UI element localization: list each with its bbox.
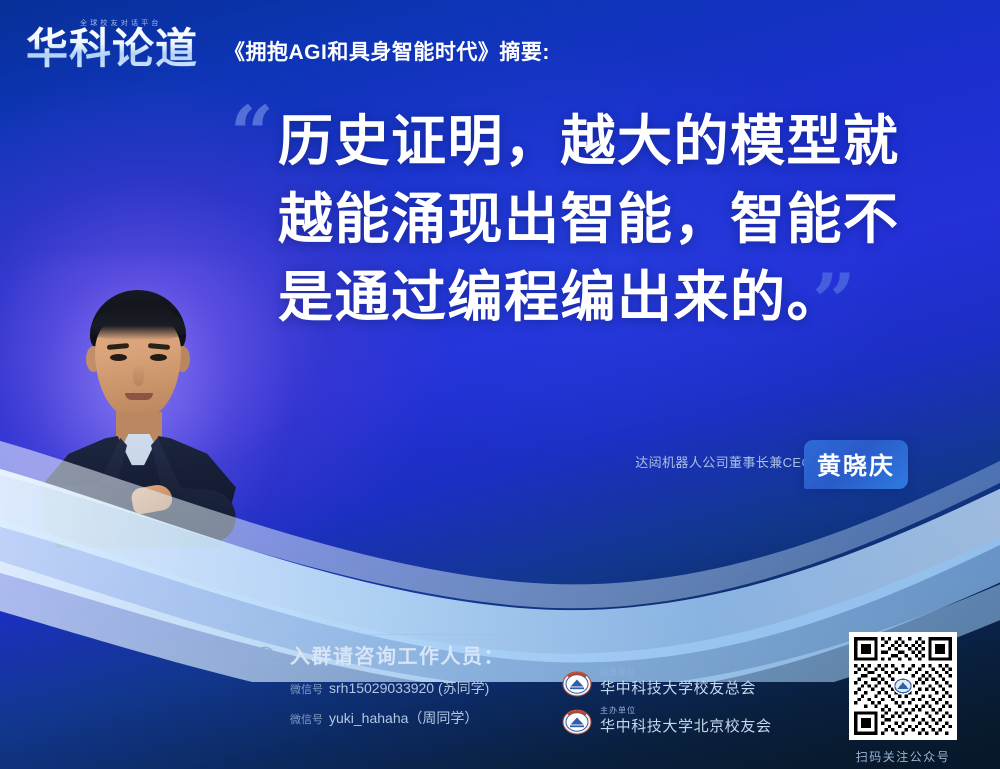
portrait-nose xyxy=(133,364,144,386)
qr-block: 扫码关注公众号 xyxy=(838,632,968,765)
poster-canvas: 全球校友对话平台 华科论道 《拥抱AGI和具身智能时代》摘要: “ 历史证明，越… xyxy=(0,0,1000,769)
contact-row: 微信号srh15029033920 (苏同学) xyxy=(290,678,489,698)
page-title: 《拥抱AGI和具身智能时代》摘要: xyxy=(224,36,550,66)
portrait-mouth xyxy=(125,393,153,400)
quote-line: 越能涌现出智能，智能不 xyxy=(278,180,958,258)
poster-header: 全球校友对话平台 华科论道 《拥抱AGI和具身智能时代》摘要: xyxy=(0,0,1000,92)
brand-logo: 全球校友对话平台 华科论道 xyxy=(26,18,212,74)
contact-heading: 入群请咨询工作人员： xyxy=(290,640,505,669)
portrait-eye-left xyxy=(110,354,127,361)
speaker-name-badge: 黄晓庆 xyxy=(804,440,908,489)
quote-line: 是通过编程编出来的。 xyxy=(278,258,958,336)
contact-value: yuki_hahaha（周同学） xyxy=(329,710,478,726)
quote-close-mark: ” xyxy=(812,264,856,340)
quote-text-block: 历史证明，越大的模型就 越能涌现出智能，智能不 是通过编程编出来的。 xyxy=(278,102,958,336)
quote-open-mark: “ xyxy=(230,96,274,172)
organizer-row: 指导单位 华中科技大学校友总会 xyxy=(562,668,802,702)
hust-emblem-icon xyxy=(562,671,592,697)
hust-emblem-icon xyxy=(562,709,592,735)
quote-line: 历史证明，越大的模型就 xyxy=(278,102,958,180)
organizer-name: 华中科技大学校友总会 xyxy=(600,677,756,698)
contact-value: srh15029033920 (苏同学) xyxy=(329,680,489,696)
organizer-name: 华中科技大学北京校友会 xyxy=(600,715,772,736)
organizer-row: 主办单位 华中科技大学北京校友会 xyxy=(562,706,802,740)
portrait-eye-right xyxy=(150,354,167,361)
organizer-block: 指导单位 华中科技大学校友总会 主办单位 华中科技大学北京校友会 xyxy=(562,668,802,744)
logo-wordmark: 华科论道 xyxy=(26,26,198,72)
qr-caption: 扫码关注公众号 xyxy=(838,748,968,765)
contact-row: 微信号yuki_hahaha（周同学） xyxy=(290,708,478,728)
footer-divider xyxy=(285,634,790,635)
speaker-role: 达闼机器人公司董事长兼CEO xyxy=(635,452,812,471)
wechat-icon xyxy=(256,646,282,666)
qr-code-icon[interactable] xyxy=(849,632,957,740)
contact-label: 微信号 xyxy=(290,714,323,726)
speaker-attribution: 达闼机器人公司董事长兼CEO 黄晓庆 xyxy=(600,440,920,486)
contact-label: 微信号 xyxy=(290,684,323,696)
